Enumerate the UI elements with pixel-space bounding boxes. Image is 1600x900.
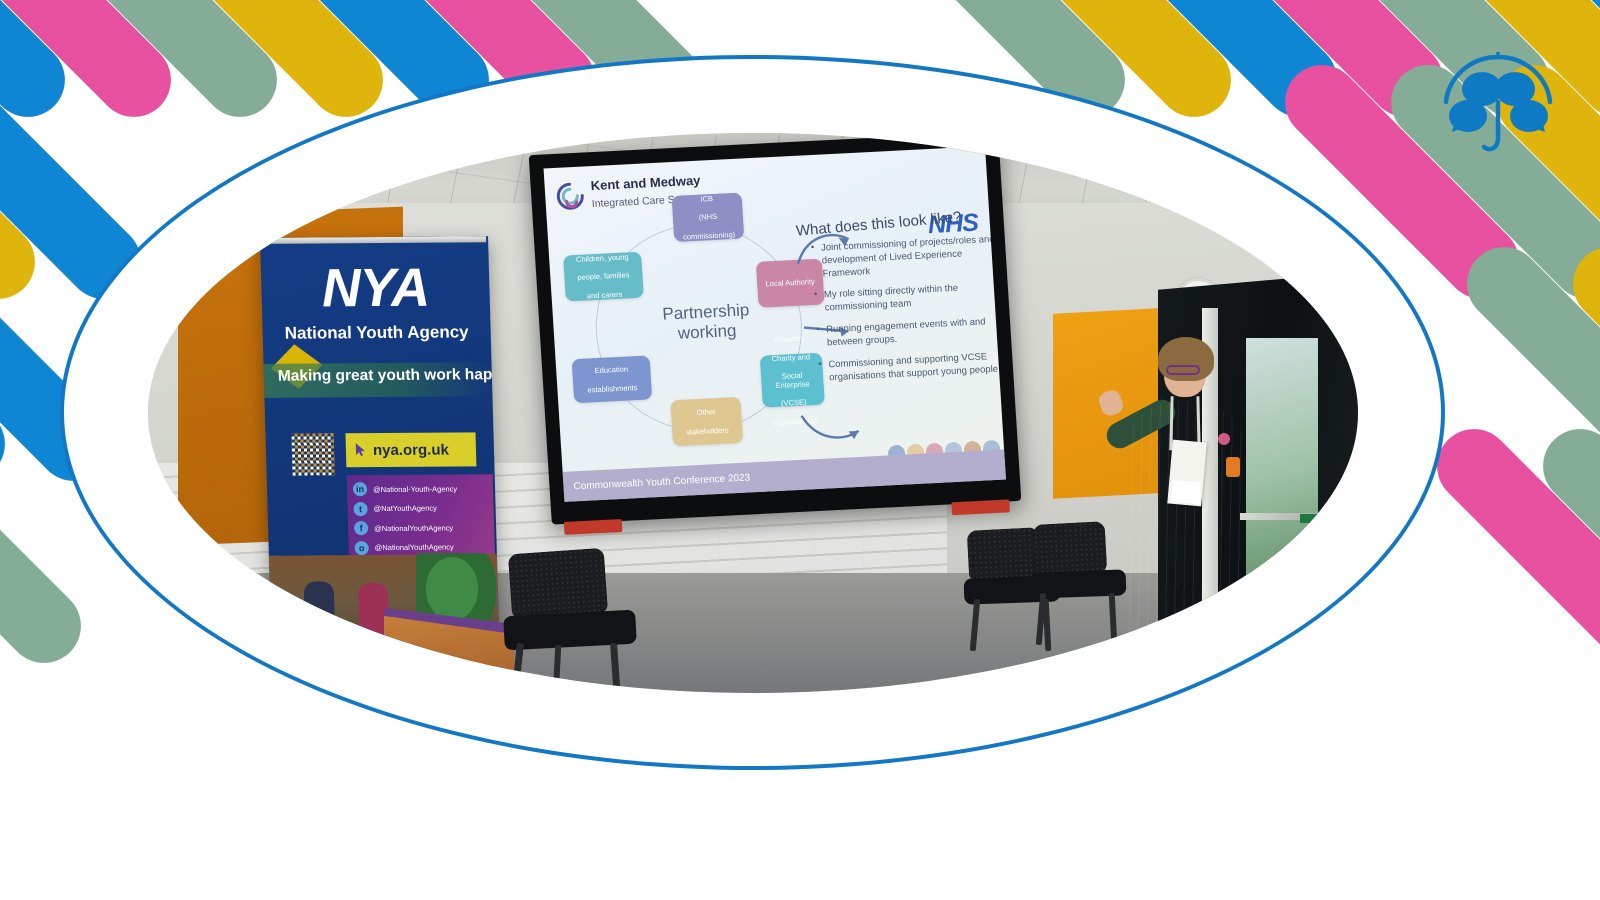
cursor-click-icon — [354, 442, 368, 458]
social-handle: @NationalYouthAgency — [375, 542, 454, 552]
social-row: f @NationalYouthAgency — [354, 520, 488, 535]
presenter-sleeve-patch — [1226, 457, 1240, 477]
node-children-young-people: Children, youngpeople, familiesand carer… — [563, 252, 644, 302]
umbrella-icon — [1432, 44, 1564, 164]
social-row: in @National-Youth-Agency — [353, 481, 487, 496]
nya-subtitle: National Youth Agency — [262, 322, 491, 344]
facebook-icon: f — [354, 521, 368, 535]
slide-footer: Commonwealth Youth Conference 2023 — [563, 450, 1006, 502]
slide-bullet: Joint commissioning of projects/roles an… — [811, 234, 999, 282]
presenter-glasses — [1166, 365, 1200, 375]
partnership-center-label: Partnershipworking — [630, 299, 782, 346]
node-education-establishments: Educationestablishments — [572, 355, 653, 403]
kent-medway-title: Kent and Medway — [590, 173, 701, 194]
slide-bullet: Commissioning and supporting VCSE organi… — [818, 350, 1005, 385]
presenter-sleeve-flower — [1218, 433, 1230, 445]
instagram-icon: o — [354, 541, 368, 555]
slide: Kent and Medway Integrated Care System N… — [544, 146, 1006, 502]
slide-bullet: Running engagement events with and betwe… — [816, 316, 1003, 351]
qr-code-icon — [291, 433, 334, 475]
twitter-icon: t — [353, 502, 367, 516]
umbrella-speech-bubbles-logo — [1432, 44, 1564, 164]
slide-footer-text: Commonwealth Youth Conference 2023 — [563, 472, 750, 492]
slide-bullet: My role sitting directly within the comm… — [814, 281, 1001, 316]
nya-tagline: Making great youth work happen — [278, 366, 485, 385]
exit-sign — [1300, 514, 1328, 523]
presentation-screen: Kent and Medway Integrated Care System N… — [529, 133, 1022, 525]
node-other-stakeholders: Otherstakeholders — [670, 397, 743, 446]
node-icb: ICB(NHScommissioning) — [672, 193, 745, 242]
presenter-badge — [1171, 480, 1200, 503]
conference-photo: ▮↓✗ — [148, 133, 1358, 693]
kent-medway-mark-icon — [554, 180, 586, 211]
banner-top-rail — [262, 236, 486, 244]
nya-url-button: nya.org.uk — [345, 432, 476, 467]
nya-logo: NYA — [261, 260, 491, 316]
social-row: t @NatYouthAgency — [353, 501, 487, 516]
linkedin-icon: in — [353, 482, 367, 496]
social-handle: @National-Youth-Agency — [373, 484, 457, 494]
arrow-icon-3 — [797, 402, 870, 449]
nya-url-text: nya.org.uk — [373, 441, 449, 459]
presenter — [1108, 315, 1288, 693]
chair-front-left — [496, 551, 656, 693]
social-handle: @NationalYouthAgency — [374, 523, 453, 533]
banner-person-1 — [304, 581, 336, 637]
slide-bullet-list: Joint commissioning of projects/roles an… — [811, 234, 1006, 394]
social-handle: @NatYouthAgency — [373, 504, 436, 513]
poster-canvas: ▮↓✗ — [0, 0, 1600, 900]
node-vcse-organisations: Voluntary,Charity andSocial Enterprise(V… — [760, 353, 825, 408]
